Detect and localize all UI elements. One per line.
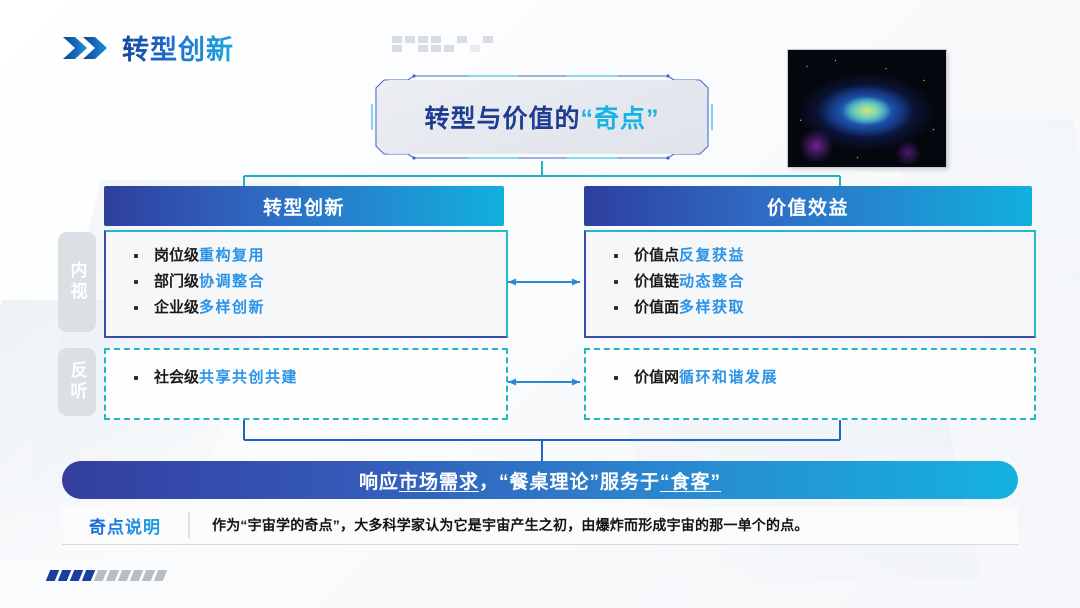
row1-double-arrow <box>508 279 580 286</box>
row2-double-arrow <box>508 379 580 386</box>
bullet-highlight: 多样获取 <box>679 299 745 316</box>
bullet-prefix: 价值面 <box>634 299 679 316</box>
side-label-reflect-text: 反听 <box>65 361 90 403</box>
decorative-pixel-dots <box>392 36 493 52</box>
result-part1: 响应 <box>359 467 399 494</box>
result-part2: ，“餐桌理论”服务于 <box>479 467 660 494</box>
result-underline2: “食客” <box>660 467 721 494</box>
side-label-inner: 内视 <box>58 232 96 332</box>
result-underline1: 市场需求 <box>399 467 479 494</box>
bullet-list: 社会级共享共创共建 <box>106 350 506 391</box>
bullet-highlight: 动态整合 <box>679 273 745 290</box>
bullet-highlight: 反复获益 <box>679 247 745 264</box>
panel-value-reflect: 价值网循环和谐发展 <box>584 348 1036 420</box>
hero-title-banner: 转型与价值的“奇点” <box>368 74 716 160</box>
hero-title-accent: “奇点” <box>581 105 660 133</box>
list-item: 岗位级重构复用 <box>132 243 506 269</box>
bullet-list: 价值点反复获益 价值链动态整合 价值面多样获取 <box>586 232 1034 321</box>
note-text: 作为“宇宙学的奇点”，大多科学家认为它是宇宙产生之初，由爆炸而形成宇宙的那一单个… <box>190 515 1018 535</box>
double-chevron-right-icon <box>62 35 108 61</box>
bullet-prefix: 企业级 <box>154 299 199 316</box>
list-item: 部门级协调整合 <box>132 269 506 295</box>
bullet-highlight: 多样创新 <box>199 299 265 316</box>
list-item: 价值面多样获取 <box>612 295 1034 321</box>
slide-canvas: 转型创新 <box>0 0 1080 608</box>
bullet-highlight: 循环和谐发展 <box>679 369 778 386</box>
side-label-inner-text: 内视 <box>65 261 90 303</box>
result-banner: 响应市场需求，“餐桌理论”服务于“食客” <box>62 461 1018 499</box>
panel-value-inner: 价值点反复获益 价值链动态整合 价值面多样获取 <box>584 230 1036 338</box>
panel-transformation-inner: 岗位级重构复用 部门级协调整合 企业级多样创新 <box>104 230 508 338</box>
list-item: 价值链动态整合 <box>612 269 1034 295</box>
note-label: 奇点说明 <box>62 513 188 538</box>
panel-transformation-reflect: 社会级共享共创共建 <box>104 348 508 420</box>
bullet-prefix: 岗位级 <box>154 247 199 264</box>
column-heading-value: 价值效益 <box>584 186 1032 226</box>
page-title: 转型创新 <box>122 28 234 67</box>
list-item: 企业级多样创新 <box>132 295 506 321</box>
bullet-prefix: 部门级 <box>154 273 199 290</box>
side-label-reflect: 反听 <box>58 348 96 416</box>
list-item: 价值点反复获益 <box>612 243 1034 269</box>
bullet-prefix: 价值点 <box>634 247 679 264</box>
column-heading-transformation: 转型创新 <box>104 186 504 226</box>
slide-header: 转型创新 <box>62 28 234 67</box>
bullet-prefix: 价值网 <box>634 369 679 386</box>
bullet-list: 价值网循环和谐发展 <box>586 350 1034 391</box>
list-item: 价值网循环和谐发展 <box>612 365 1034 391</box>
bullet-list: 岗位级重构复用 部门级协调整合 企业级多样创新 <box>106 232 506 321</box>
hero-title-text: 转型与价值的“奇点” <box>424 99 659 135</box>
bullet-highlight: 重构复用 <box>199 247 265 264</box>
bullet-highlight: 共享共创共建 <box>199 369 298 386</box>
hero-title-main: 转型与价值的 <box>424 105 580 133</box>
note-row: 奇点说明 作为“宇宙学的奇点”，大多科学家认为它是宇宙产生之初，由爆炸而形成宇宙… <box>62 506 1018 545</box>
footer-decoration <box>48 570 165 581</box>
bullet-prefix: 价值链 <box>634 273 679 290</box>
hero-title-plate: 转型与价值的“奇点” <box>377 80 707 154</box>
bullet-prefix: 社会级 <box>154 369 199 386</box>
list-item: 社会级共享共创共建 <box>132 365 506 391</box>
bullet-highlight: 协调整合 <box>199 273 265 290</box>
galaxy-singularity-image <box>788 50 946 167</box>
